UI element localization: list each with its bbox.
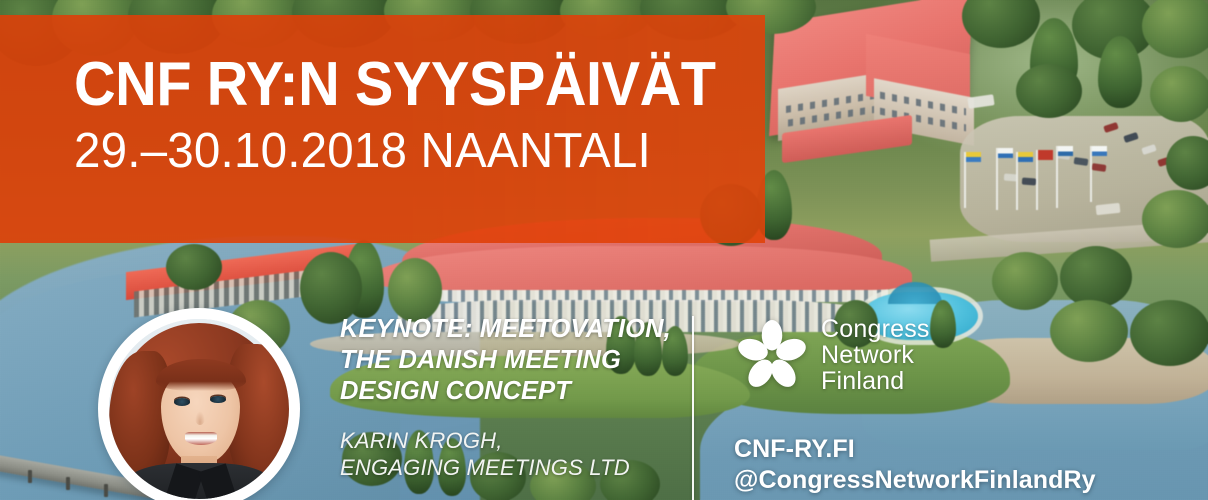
contact-block: CNF-RY.FI @CongressNetworkFinlandRy xyxy=(734,434,1096,496)
keynote-speaker: KARIN KROGH,ENGAGING MEETINGS LTD xyxy=(340,427,680,481)
photo-flag xyxy=(1018,152,1033,162)
website-url[interactable]: CNF-RY.FI xyxy=(734,434,1096,465)
avatar-smile xyxy=(185,432,217,445)
photo-flag xyxy=(1058,146,1073,156)
photo-pier-post xyxy=(66,477,70,490)
keynote-title: KEYNOTE: MEETOVATION,THE DANISH MEETINGD… xyxy=(340,314,680,407)
photo-flag xyxy=(1038,150,1053,160)
photo-tree xyxy=(388,258,442,322)
flower-petal-logo-icon xyxy=(734,317,810,393)
photo-tree xyxy=(1050,300,1128,362)
photo-tree xyxy=(1130,300,1208,366)
photo-flag-finland xyxy=(998,148,1013,158)
keynote-block: KEYNOTE: MEETOVATION,THE DANISH MEETINGD… xyxy=(340,314,680,481)
photo-tree xyxy=(1016,64,1082,118)
avatar xyxy=(98,308,300,500)
photo-tree xyxy=(1142,190,1208,248)
keynote-title-line-1: KEYNOTE: MEETOVATION, xyxy=(340,315,671,343)
page-title: CNF RY:N SYYSPÄIVÄT xyxy=(74,52,688,118)
photo-tree xyxy=(1150,66,1208,122)
photo-pier-post xyxy=(28,470,32,483)
photo-tree xyxy=(166,244,222,290)
photo-flag-ukraine xyxy=(966,152,981,162)
keynote-title-line-3: DESIGN CONCEPT xyxy=(340,377,571,405)
logo-line-finland: Finland xyxy=(821,368,930,394)
photo-car xyxy=(1022,178,1036,186)
event-date-location: 29.–30.10.2018 NAANTALI xyxy=(74,124,714,178)
social-handle[interactable]: @CongressNetworkFinlandRy xyxy=(734,465,1096,496)
photo-pool-umbrella xyxy=(888,282,942,304)
keynote-speaker-company: ENGAGING MEETINGS LTD xyxy=(340,455,630,480)
avatar-image xyxy=(109,319,289,499)
hero-title-block: CNF RY:N SYYSPÄIVÄT 29.–30.10.2018 NAANT… xyxy=(74,52,734,178)
divider xyxy=(692,316,694,500)
avatar-eye-left xyxy=(174,398,190,406)
photo-tree xyxy=(992,252,1058,310)
brand-logo-wordmark: Congress Network Finland xyxy=(821,316,930,394)
photo-pier-post xyxy=(104,484,108,497)
logo-line-network: Network xyxy=(821,342,930,368)
keynote-title-line-2: THE DANISH MEETING xyxy=(340,346,621,374)
photo-tree xyxy=(1060,246,1132,308)
photo-flag xyxy=(1092,146,1107,156)
event-promo-banner: CNF RY:N SYYSPÄIVÄT 29.–30.10.2018 NAANT… xyxy=(0,0,1208,500)
brand-logo: Congress Network Finland xyxy=(734,316,930,394)
logo-line-congress: Congress xyxy=(821,316,930,342)
photo-terrace-roof-lower xyxy=(372,246,912,290)
keynote-speaker-name: KARIN KROGH, xyxy=(340,428,503,453)
